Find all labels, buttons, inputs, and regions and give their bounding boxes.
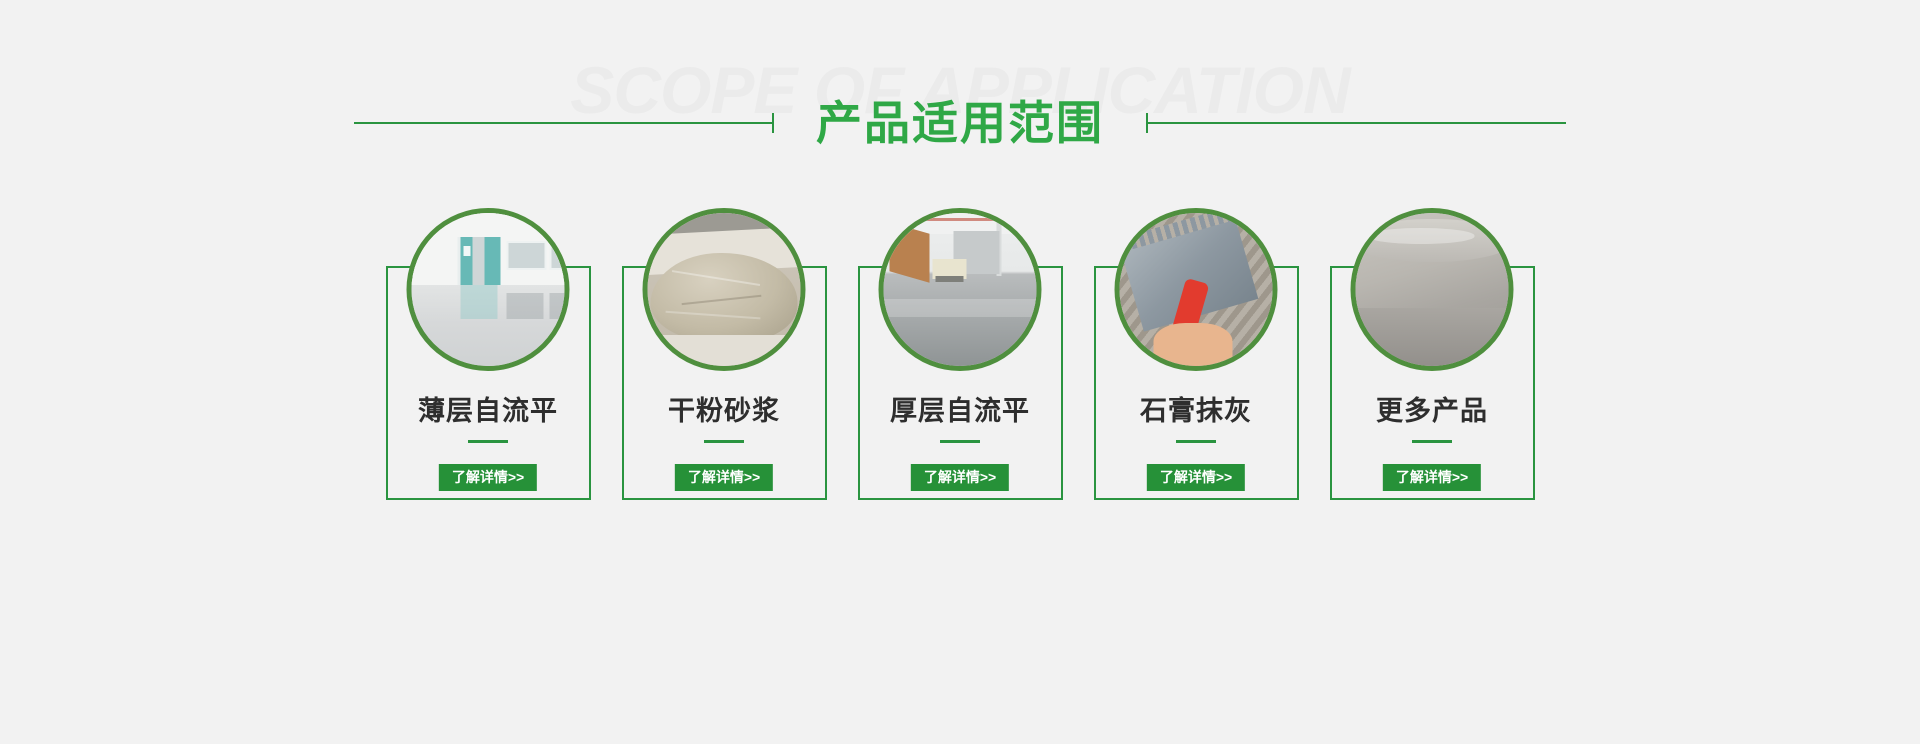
card-circle-image [879, 208, 1042, 371]
rule-line-right [1148, 122, 1566, 124]
title-row: 产品适用范围 [0, 100, 1920, 146]
warehouse-thick-layer-floor-photo [884, 213, 1037, 366]
page-title: 产品适用范围 [774, 100, 1146, 146]
card-circle-image [407, 208, 570, 371]
learn-more-button[interactable]: 了解详情>> [1383, 464, 1481, 491]
card-title: 干粉砂浆 [622, 398, 827, 425]
title-rule-left [354, 113, 774, 133]
learn-more-button[interactable]: 了解详情>> [439, 464, 537, 491]
card-title: 石膏抹灰 [1094, 398, 1299, 425]
card-title: 厚层自流平 [858, 398, 1063, 425]
card-title-underline [1412, 440, 1452, 443]
rule-line-left [354, 122, 772, 124]
card-title: 更多产品 [1330, 398, 1535, 425]
scope-card[interactable]: 干粉砂浆 了解详情>> [622, 208, 827, 508]
card-circle-image [643, 208, 806, 371]
more-products-grey-slab-photo [1356, 213, 1509, 366]
learn-more-button[interactable]: 了解详情>> [1147, 464, 1245, 491]
scope-card[interactable]: 薄层自流平 了解详情>> [386, 208, 591, 508]
card-circle-image [1351, 208, 1514, 371]
gypsum-plaster-notched-trowel-photo [1120, 213, 1273, 366]
scope-card[interactable]: 厚层自流平 了解详情>> [858, 208, 1063, 508]
scope-card[interactable]: 石膏抹灰 了解详情>> [1094, 208, 1299, 508]
card-title-underline [940, 440, 980, 443]
title-rule-right [1146, 113, 1566, 133]
learn-more-button[interactable]: 了解详情>> [675, 464, 773, 491]
card-title-underline [1176, 440, 1216, 443]
section-header: SCOPE OF APPLICATION 产品适用范围 [0, 0, 1920, 200]
card-title: 薄层自流平 [386, 398, 591, 425]
epoxy-self-leveling-floor-room-photo [412, 213, 565, 366]
card-circle-image [1115, 208, 1278, 371]
application-scope-card-list: 薄层自流平 了解详情>> 干粉砂浆 了解详情>> [0, 208, 1920, 508]
scope-card[interactable]: 更多产品 了解详情>> [1330, 208, 1535, 508]
card-title-underline [704, 440, 744, 443]
learn-more-button[interactable]: 了解详情>> [911, 464, 1009, 491]
dry-powder-mortar-bag-photo [648, 213, 801, 366]
card-title-underline [468, 440, 508, 443]
